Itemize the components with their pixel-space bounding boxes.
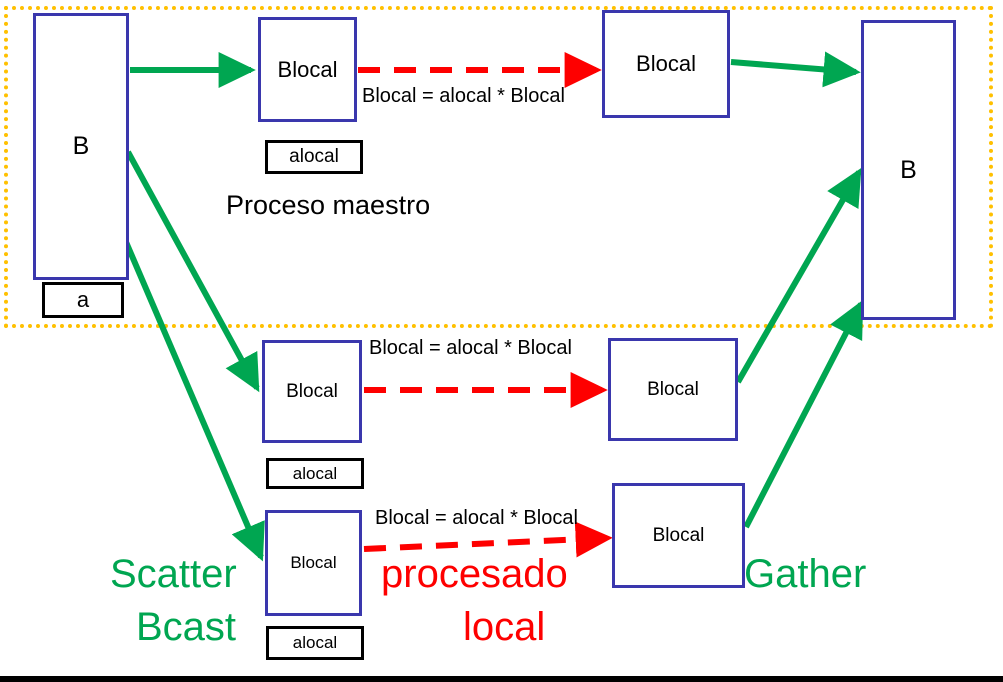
phase-scatter-label: Scatter: [110, 552, 237, 597]
process-0-input-label: Blocal: [278, 57, 338, 83]
master-process-region: [4, 6, 993, 328]
gather-arrow-p2: [746, 304, 861, 527]
scalar-a-label: a: [77, 287, 89, 313]
phase-bcast-label: Bcast: [136, 605, 236, 650]
process-0-input-block[interactable]: Blocal: [258, 17, 357, 122]
phase-procesado-label: procesado: [381, 552, 568, 597]
process-0-output-block[interactable]: Blocal: [602, 10, 730, 118]
process-0-scalar-label: alocal: [289, 146, 339, 168]
process-2-output-label: Blocal: [653, 525, 705, 547]
process-1-input-label: Blocal: [286, 381, 338, 403]
diagram-canvas: B a B Blocal alocal Blocal = alocal * Bl…: [0, 0, 1003, 682]
process-arrow-p2: [364, 538, 608, 549]
process-1-scalar-block[interactable]: alocal: [266, 458, 364, 489]
process-2-input-block[interactable]: Blocal: [265, 510, 362, 616]
matrix-b-right[interactable]: B: [861, 20, 956, 320]
process-0-scalar-block[interactable]: alocal: [265, 140, 363, 174]
process-2-output-block[interactable]: Blocal: [612, 483, 745, 588]
phase-local-label: local: [463, 605, 545, 650]
process-2-scalar-label: alocal: [293, 633, 337, 653]
bottom-bar: [0, 676, 1003, 682]
phase-gather-label: Gather: [744, 552, 866, 597]
process-1-output-block[interactable]: Blocal: [608, 338, 738, 441]
process-2-operation: Blocal = alocal * Blocal: [375, 507, 578, 530]
process-2-input-label: Blocal: [290, 553, 336, 573]
master-process-caption: Proceso maestro: [226, 190, 430, 221]
scalar-a[interactable]: a: [42, 282, 124, 318]
process-2-scalar-block[interactable]: alocal: [266, 626, 364, 660]
matrix-b-right-label: B: [900, 156, 917, 185]
matrix-b-left[interactable]: B: [33, 13, 129, 280]
process-1-scalar-label: alocal: [293, 464, 337, 484]
process-1-output-label: Blocal: [647, 379, 699, 401]
process-1-operation: Blocal = alocal * Blocal: [369, 337, 572, 360]
process-0-operation: Blocal = alocal * Blocal: [362, 85, 565, 108]
process-1-input-block[interactable]: Blocal: [262, 340, 362, 443]
matrix-b-left-label: B: [73, 132, 90, 161]
process-0-output-label: Blocal: [636, 51, 696, 77]
